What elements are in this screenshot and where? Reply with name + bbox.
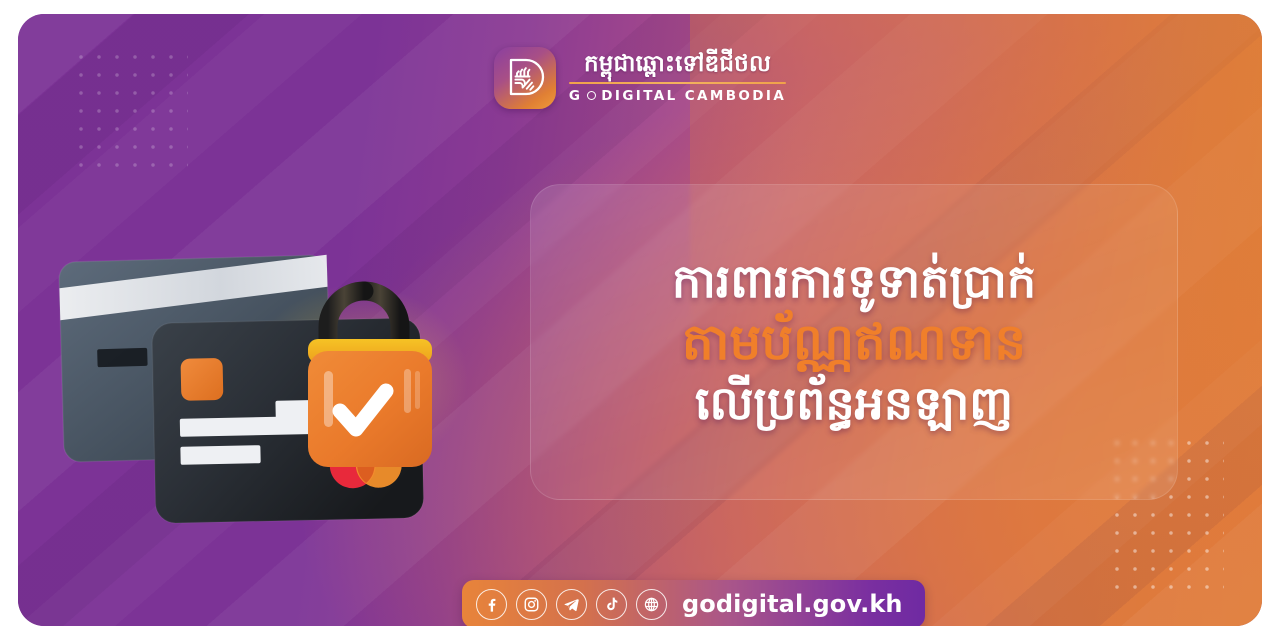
headline-line-3: លើប្រព័ន្ធអនឡាញ <box>695 375 1013 431</box>
website-globe-icon[interactable] <box>636 589 667 620</box>
brand-header: កម្ពុជាឆ្ពោះទៅឌីជីថល G DIGITAL CAMBODIA <box>18 47 1262 109</box>
poster-frame: កម្ពុជាឆ្ពោះទៅឌីជីថល G DIGITAL CAMBODIA <box>0 0 1280 640</box>
credit-cards-with-padlock-illustration <box>58 229 478 529</box>
brand-text-block: កម្ពុជាឆ្ពោះទៅឌីជីថល G DIGITAL CAMBODIA <box>569 52 786 104</box>
brand-latin-suffix: DIGITAL CAMBODIA <box>601 88 786 104</box>
circle-o-icon <box>587 91 596 100</box>
brand-divider-rule <box>569 82 786 84</box>
brand-latin-name: G DIGITAL CAMBODIA <box>569 88 786 104</box>
godigital-logo-icon <box>494 47 556 109</box>
headline-line-1: ការពារការទូទាត់ប្រាក់ <box>672 253 1036 309</box>
brand-latin-prefix: G <box>569 88 582 104</box>
poster-card: កម្ពុជាឆ្ពោះទៅឌីជីថល G DIGITAL CAMBODIA <box>18 14 1262 626</box>
headline-line-2: តាមប័ណ្ណឥណទាន <box>682 312 1026 373</box>
card-chip <box>181 358 224 401</box>
footer-social-bar: godigital.gov.kh <box>462 580 925 626</box>
tiktok-icon[interactable] <box>596 589 627 620</box>
brand-khmer-name: កម្ពុជាឆ្ពោះទៅឌីជីថល <box>584 52 771 78</box>
footer-url-text[interactable]: godigital.gov.kh <box>682 590 903 618</box>
headline-panel: ការពារការទូទាត់ប្រាក់ តាមប័ណ្ណឥណទាន លើប្… <box>530 184 1178 500</box>
instagram-icon[interactable] <box>516 589 547 620</box>
telegram-icon[interactable] <box>556 589 587 620</box>
facebook-icon[interactable] <box>476 589 507 620</box>
